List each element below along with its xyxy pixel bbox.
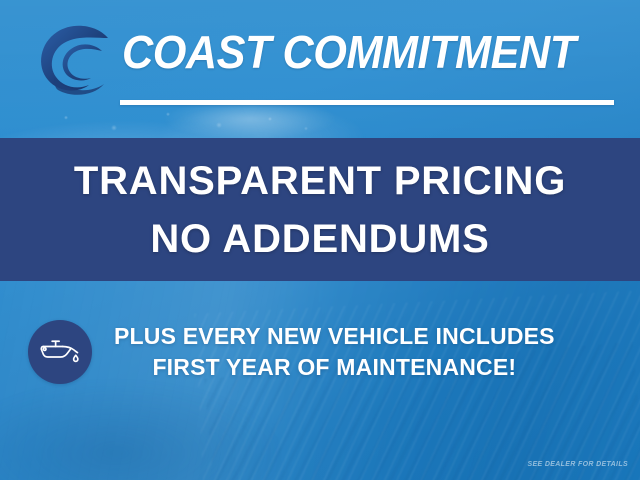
oil-can-icon — [39, 335, 81, 370]
promo-icon-badge — [28, 320, 92, 384]
promo-line-2: FIRST YEAR OF MAINTENANCE! — [114, 352, 555, 383]
coast-commitment-banner: COAST COMMITMENT TRANSPARENT PRICING NO … — [0, 0, 640, 480]
promo-text-block: PLUS EVERY NEW VEHICLE INCLUDES FIRST YE… — [114, 321, 555, 383]
page-title: COAST COMMITMENT — [122, 23, 576, 81]
promo-line-1: PLUS EVERY NEW VEHICLE INCLUDES — [114, 321, 555, 352]
wave-swirl-logo-icon — [24, 18, 120, 98]
headline-line-1: TRANSPARENT PRICING — [74, 155, 566, 207]
promo-row: PLUS EVERY NEW VEHICLE INCLUDES FIRST YE… — [0, 320, 640, 384]
headline-band: TRANSPARENT PRICING NO ADDENDUMS — [0, 138, 640, 281]
headline-line-2: NO ADDENDUMS — [150, 213, 489, 265]
header-divider-rule — [120, 100, 614, 105]
banner-header: COAST COMMITMENT — [0, 0, 640, 138]
disclaimer-text: SEE DEALER FOR DETAILS — [527, 461, 628, 468]
